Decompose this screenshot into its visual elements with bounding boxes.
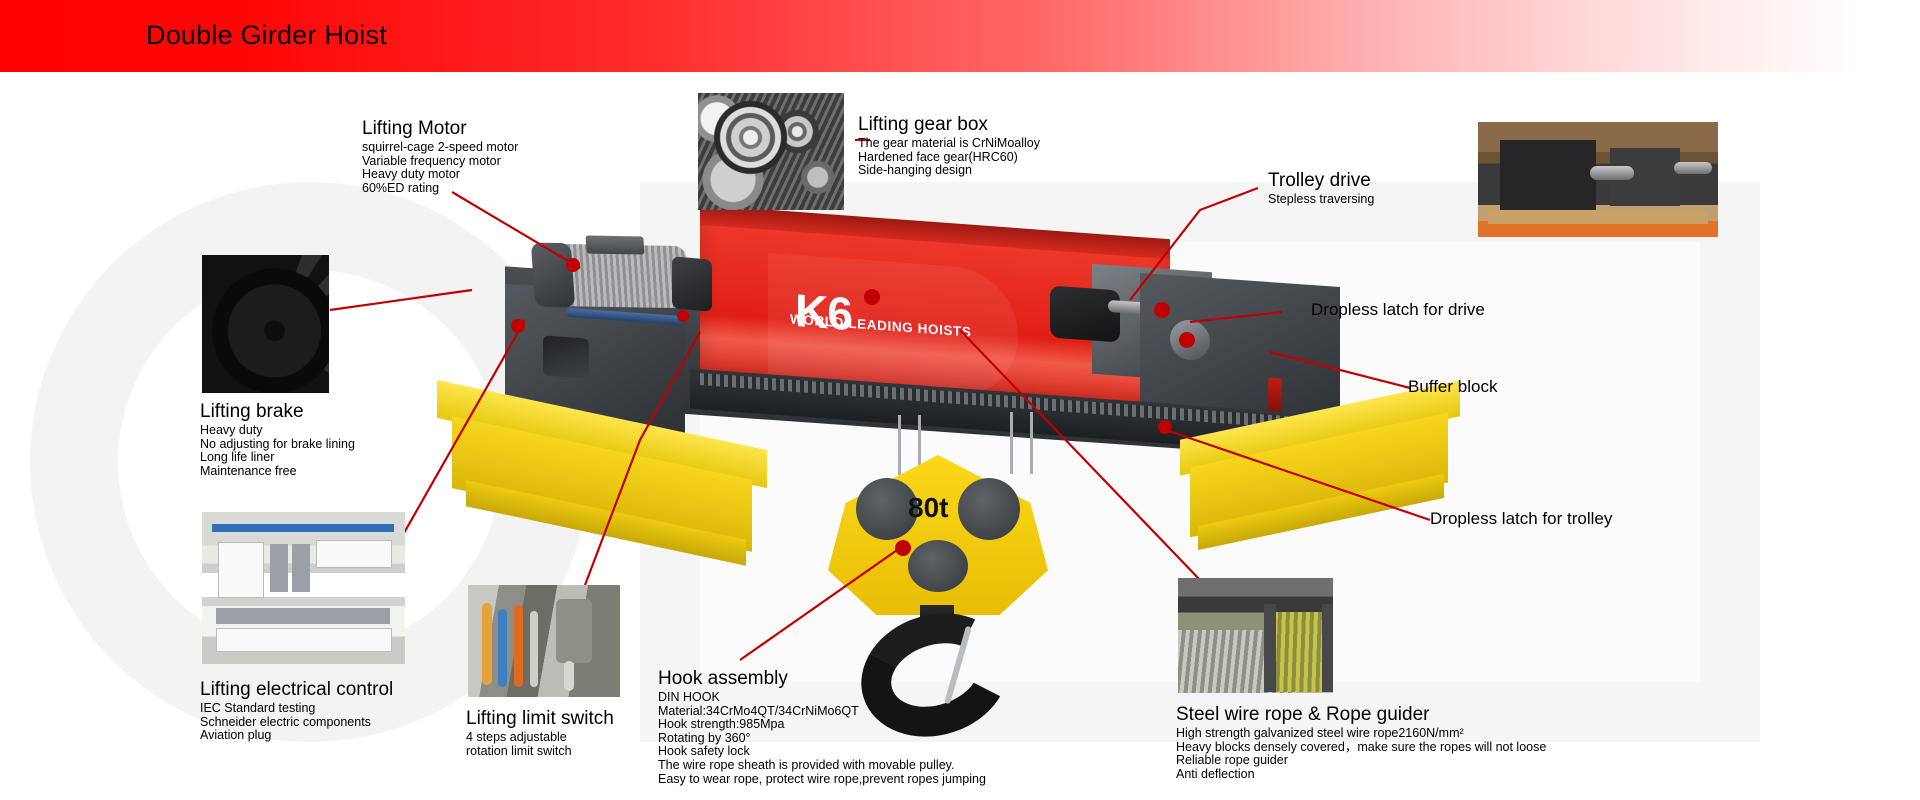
annotation-title: Trolley drive xyxy=(1268,170,1374,192)
leader-buffer-block xyxy=(1270,352,1410,388)
leader-dot-latch-drive xyxy=(1179,332,1195,348)
leader-dot-motor xyxy=(566,258,580,272)
annotation-hook-assembly: Hook assembly DIN HOOK Material:34CrMo4Q… xyxy=(658,668,986,786)
photo-lifting-limit-switch xyxy=(468,585,620,697)
photo-trolley-drive xyxy=(1478,122,1718,237)
annotation-lifting-motor: Lifting Motor squirrel-cage 2-speed moto… xyxy=(362,118,518,195)
annotation-line: Hardened face gear(HRC60) xyxy=(858,151,1040,165)
annotation-line: Hook safety lock xyxy=(658,745,986,759)
annotation-title: Lifting Motor xyxy=(362,118,518,140)
photo-steel-wire-rope xyxy=(1178,578,1333,693)
leader-electrical-control xyxy=(400,320,525,540)
annotation-line: Hook strength:985Mpa xyxy=(658,718,986,732)
annotation-line: Easy to wear rope, protect wire rope,pre… xyxy=(658,773,986,787)
photo-lifting-brake xyxy=(202,255,329,393)
annotation-line: Anti deflection xyxy=(1176,768,1546,782)
annotation-line: No adjusting for brake lining xyxy=(200,438,355,452)
annotation-lifting-electrical-control: Lifting electrical control IEC Standard … xyxy=(200,679,393,743)
annotation-line: Schneider electric components xyxy=(200,716,393,730)
annotation-line: Heavy duty motor xyxy=(362,168,518,182)
annotation-line: Long life liner xyxy=(200,451,355,465)
annotation-line: Material:34CrMo4QT/34CrNiMo6QT xyxy=(658,705,986,719)
annotation-trolley-drive: Trolley drive Stepless traversing xyxy=(1268,170,1374,207)
annotation-line: Side-hanging design xyxy=(858,164,1040,178)
annotation-lifting-brake: Lifting brake Heavy duty No adjusting fo… xyxy=(200,401,355,478)
annotation-line: The gear material is CrNiMoalloy xyxy=(858,137,1040,151)
leader-dot-latch-trolley xyxy=(1158,420,1172,434)
annotation-line: The wire rope sheath is provided with mo… xyxy=(658,759,986,773)
leader-lifting-brake xyxy=(330,290,472,310)
leader-dropless-latch-drive xyxy=(1190,312,1282,322)
annotation-title: Lifting electrical control xyxy=(200,679,393,701)
label-dropless-latch-for-trolley: Dropless latch for trolley xyxy=(1430,509,1612,529)
annotation-line: Aviation plug xyxy=(200,729,393,743)
annotation-line: Stepless traversing xyxy=(1268,193,1374,207)
annotation-lifting-limit-switch: Lifting limit switch 4 steps adjustable … xyxy=(466,708,614,758)
leader-rope-guider xyxy=(960,330,1200,580)
annotation-line: Heavy blocks densely covered，make sure t… xyxy=(1176,741,1546,755)
annotation-line: rotation limit switch xyxy=(466,745,614,759)
leader-dot-brake xyxy=(511,319,525,333)
annotation-line: Maintenance free xyxy=(200,465,355,479)
annotation-line: Reliable rope guider xyxy=(1176,754,1546,768)
leader-hook-assembly xyxy=(740,548,900,660)
annotation-title: Lifting gear box xyxy=(858,114,1040,136)
annotation-line: Variable frequency motor xyxy=(362,155,518,169)
photo-lifting-gear-box xyxy=(698,93,844,210)
leader-limit-switch xyxy=(585,332,700,585)
annotation-title: Lifting limit switch xyxy=(466,708,614,730)
annotation-line: squirrel-cage 2-speed motor xyxy=(362,141,518,155)
annotation-line: High strength galvanized steel wire rope… xyxy=(1176,727,1546,741)
leader-trolley-drive xyxy=(1130,188,1258,300)
annotation-title: Lifting brake xyxy=(200,401,355,423)
annotation-title: Hook assembly xyxy=(658,668,986,690)
leader-dropless-latch-trolley xyxy=(1160,428,1430,520)
photo-electrical-control xyxy=(202,512,405,664)
annotation-line: Heavy duty xyxy=(200,424,355,438)
annotation-line: DIN HOOK xyxy=(658,691,986,705)
annotation-line: 4 steps adjustable xyxy=(466,731,614,745)
annotation-line: IEC Standard testing xyxy=(200,702,393,716)
annotation-steel-wire-rope: Steel wire rope & Rope guider High stren… xyxy=(1176,704,1546,781)
leader-dot-trolley-drive xyxy=(1154,302,1170,318)
annotation-line: Rotating by 360° xyxy=(658,732,986,746)
leader-lifting-motor xyxy=(452,192,580,268)
leader-dot-hook xyxy=(895,540,911,556)
label-buffer-block: Buffer block xyxy=(1408,377,1497,397)
annotation-line: 60%ED rating xyxy=(362,182,518,196)
annotation-title: Steel wire rope & Rope guider xyxy=(1176,704,1546,726)
annotation-lifting-gear-box: Lifting gear box The gear material is Cr… xyxy=(858,114,1040,178)
leader-dot-limit-switch xyxy=(677,310,689,322)
leader-dot-drum xyxy=(864,289,880,305)
label-dropless-latch-for-drive: Dropless latch for drive xyxy=(1311,300,1485,320)
